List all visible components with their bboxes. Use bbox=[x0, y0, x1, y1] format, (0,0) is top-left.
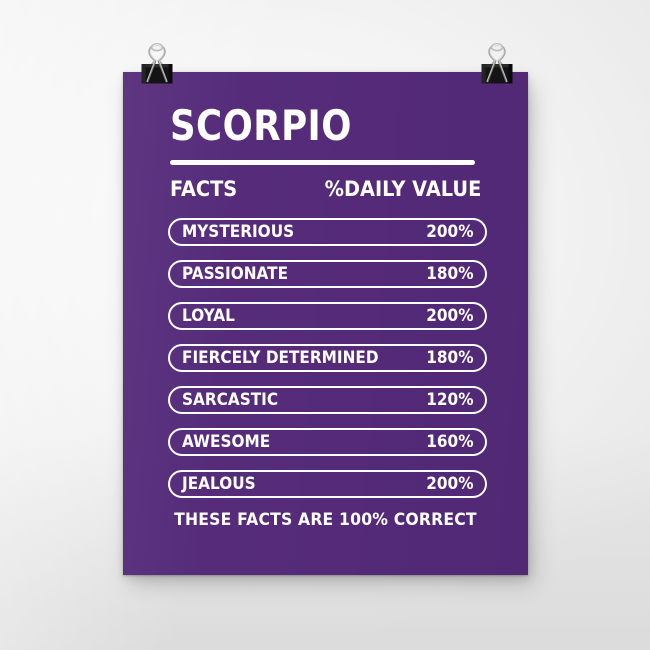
poster-mockup-scene: SCORPIO FACTS %DAILY VALUE MYSTERIOUS 20… bbox=[0, 0, 650, 650]
fact-value: 180% bbox=[427, 262, 474, 286]
fact-label: LOYAL bbox=[182, 304, 235, 328]
binder-clip-left bbox=[134, 38, 180, 92]
fact-label: MYSTERIOUS bbox=[182, 220, 294, 244]
footnote-text: THESE FACTS ARE 100% CORRECT bbox=[174, 510, 477, 530]
list-item: FIERCELY DETERMINED 180% bbox=[168, 344, 487, 372]
fact-value: 160% bbox=[427, 430, 474, 454]
binder-clip-icon bbox=[134, 38, 180, 92]
fact-value: 120% bbox=[427, 388, 474, 412]
binder-clip-right bbox=[474, 38, 520, 92]
binder-clip-icon bbox=[474, 38, 520, 92]
list-item: PASSIONATE 180% bbox=[168, 260, 487, 288]
fact-value: 200% bbox=[427, 220, 474, 244]
facts-list: MYSTERIOUS 200% PASSIONATE 180% LOYAL 20… bbox=[168, 218, 487, 512]
fact-label: JEALOUS bbox=[182, 472, 256, 496]
footnote: THESE FACTS ARE 100% CORRECT bbox=[123, 510, 528, 530]
fact-value: 180% bbox=[427, 346, 474, 370]
list-item: LOYAL 200% bbox=[168, 302, 487, 330]
list-item: SARCASTIC 120% bbox=[168, 386, 487, 414]
fact-label: AWESOME bbox=[182, 430, 270, 454]
list-item: AWESOME 160% bbox=[168, 428, 487, 456]
column-header-facts: FACTS bbox=[170, 176, 237, 202]
page-title: SCORPIO bbox=[170, 105, 352, 147]
fact-label: PASSIONATE bbox=[182, 262, 288, 286]
column-header-daily-value: %DAILY VALUE bbox=[324, 176, 481, 202]
table-header: FACTS %DAILY VALUE bbox=[170, 176, 481, 202]
list-item: JEALOUS 200% bbox=[168, 470, 487, 498]
fact-label: FIERCELY DETERMINED bbox=[182, 346, 379, 370]
poster-content: SCORPIO FACTS %DAILY VALUE MYSTERIOUS 20… bbox=[123, 72, 528, 575]
title-underline-rule bbox=[170, 160, 475, 165]
poster: SCORPIO FACTS %DAILY VALUE MYSTERIOUS 20… bbox=[123, 72, 528, 575]
list-item: MYSTERIOUS 200% bbox=[168, 218, 487, 246]
fact-value: 200% bbox=[427, 472, 474, 496]
fact-value: 200% bbox=[427, 304, 474, 328]
fact-label: SARCASTIC bbox=[182, 388, 278, 412]
